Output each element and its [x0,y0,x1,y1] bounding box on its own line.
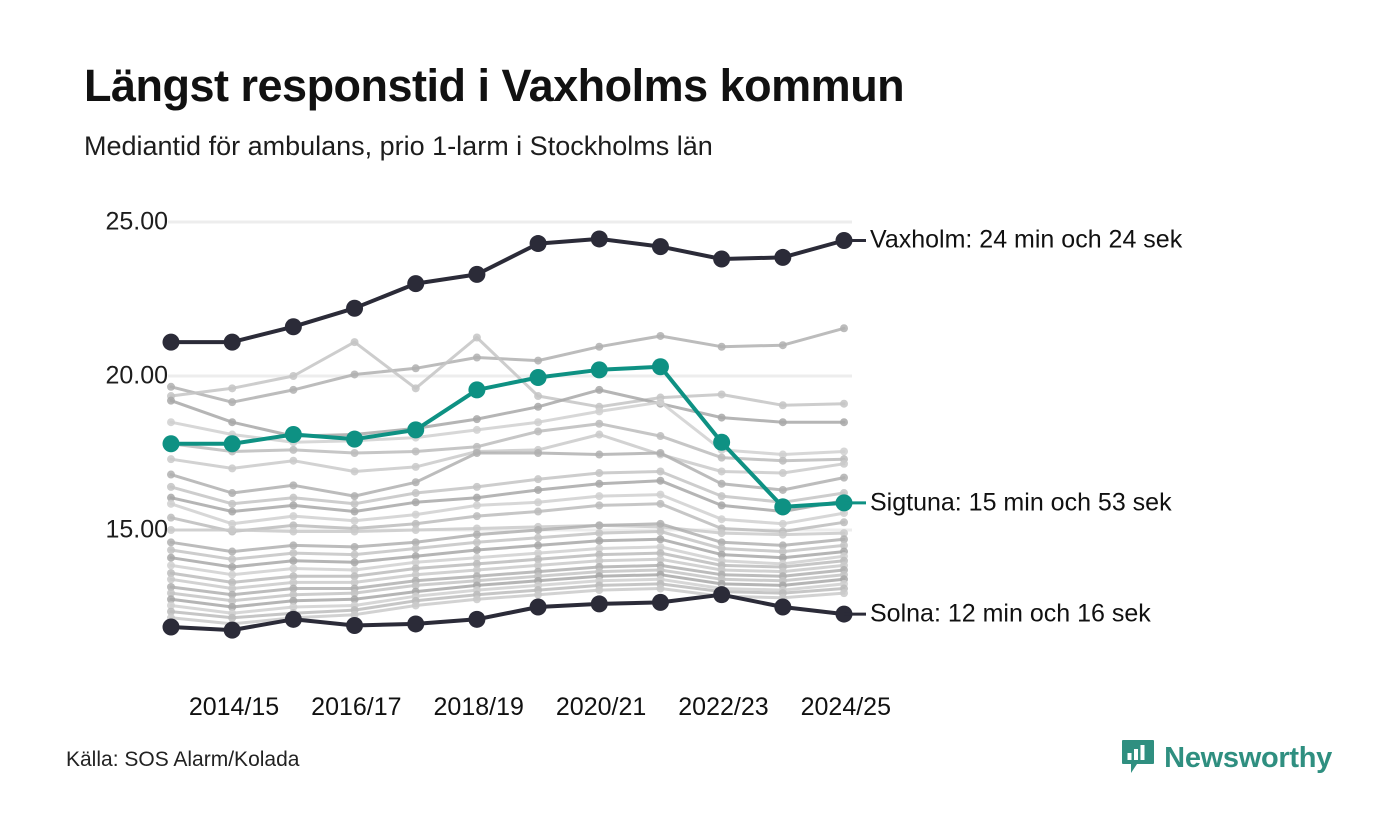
background-series-point [595,407,603,415]
background-series-point [473,595,481,603]
background-series-point [473,443,481,451]
series-point-solna[interactable] [836,606,853,623]
background-series-line [171,575,844,607]
background-series-point [718,515,726,523]
series-point-sigtuna[interactable] [224,435,241,452]
background-series-point [595,480,603,488]
background-series-point [473,560,481,568]
background-series-point [595,586,603,594]
background-series-point [779,581,787,589]
series-annotation-vaxholm[interactable]: Vaxholm: 24 min och 24 sek [870,226,1182,255]
background-series-point [595,529,603,537]
series-annotation-solna[interactable]: Solna: 12 min och 16 sek [870,600,1151,629]
background-series-point [412,577,420,585]
background-series-point [289,603,297,611]
background-series-point [412,511,420,519]
background-series-point [595,521,603,529]
background-series-point [595,572,603,580]
background-series-point [412,538,420,546]
background-series-point [779,418,787,426]
background-series-point [473,572,481,580]
x-axis-tick-label: 2014/15 [189,693,279,722]
series-point-sigtuna[interactable] [836,494,853,511]
background-series-point [656,332,664,340]
background-series-point [473,354,481,362]
x-axis-tick-label: 2022/23 [678,693,768,722]
background-series-point [779,572,787,580]
background-series-point [656,555,664,563]
background-series-point [228,563,236,571]
series-point-sigtuna[interactable] [652,358,669,375]
background-series-point [473,581,481,589]
background-series-point [779,401,787,409]
background-series-point [718,480,726,488]
background-series-point [228,528,236,536]
background-series-point [167,494,175,502]
background-series-point [840,460,848,468]
background-series-point [595,431,603,439]
background-series-point [718,561,726,569]
background-series-point [534,581,542,589]
background-series-point [412,489,420,497]
series-line-solna[interactable] [171,595,844,630]
series-point-vaxholm[interactable] [163,334,180,351]
background-series-point [656,477,664,485]
background-series-point [228,500,236,508]
background-series-point [228,384,236,392]
background-series-point [656,500,664,508]
background-series-point [351,572,359,580]
background-series-line [171,453,844,496]
background-series-point [167,397,175,405]
background-series-point [779,457,787,465]
background-series-point [228,571,236,579]
background-series-point [473,501,481,509]
background-series-point [473,334,481,342]
background-series-point [534,586,542,594]
series-point-vaxholm[interactable] [468,266,485,283]
background-series-point [289,591,297,599]
background-series-point [840,509,848,517]
background-series-point [167,440,175,448]
background-series-point [412,592,420,600]
background-series-point [289,585,297,593]
background-series-point [412,565,420,573]
background-series-point [840,552,848,560]
background-series-point [289,512,297,520]
background-series-point [228,603,236,611]
series-point-vaxholm[interactable] [652,238,669,255]
background-series-line [171,570,844,601]
chart-subtitle: Mediantid för ambulans, prio 1-larm i St… [84,109,1314,162]
series-point-vaxholm[interactable] [224,334,241,351]
background-series-point [167,455,175,463]
background-series-point [412,434,420,442]
series-point-vaxholm[interactable] [285,318,302,335]
background-series-point [473,531,481,539]
background-series-point [289,481,297,489]
background-series-point [228,464,236,472]
background-series-point [718,592,726,600]
background-series-point [595,501,603,509]
background-series-point [595,343,603,351]
background-series-point [167,538,175,546]
background-series-point [718,343,726,351]
background-series-point [656,549,664,557]
background-series-point [840,489,848,497]
background-series-point [228,418,236,426]
background-series-line [171,579,844,613]
background-series-point [534,572,542,580]
series-point-vaxholm[interactable] [836,232,853,249]
series-point-solna[interactable] [774,599,791,616]
page-title: Längst responstid i Vaxholms kommun [84,62,1314,109]
background-series-point [840,589,848,597]
background-series-point [534,534,542,542]
background-series-point [779,589,787,597]
series-line-vaxholm[interactable] [171,239,844,342]
background-series-point [473,512,481,520]
background-series-point [840,571,848,579]
background-series-point [840,400,848,408]
background-series-line [171,424,844,461]
background-series-point [473,426,481,434]
background-series-point [656,432,664,440]
background-series-point [228,614,236,622]
background-series-line [171,328,844,402]
background-series-point [289,565,297,573]
chart-header: Längst responstid i Vaxholms kommun Medi… [84,62,1314,162]
background-series-point [534,449,542,457]
background-series-line [171,390,844,436]
background-series-point [595,557,603,565]
series-point-vaxholm[interactable] [346,300,363,317]
background-series-point [167,383,175,391]
background-series-point [595,577,603,585]
series-point-sigtuna[interactable] [285,426,302,443]
background-series-point [779,541,787,549]
background-series-point [289,572,297,580]
background-series-point [351,566,359,574]
background-series-point [718,446,726,454]
series-point-vaxholm[interactable] [713,250,730,267]
background-series-point [412,520,420,528]
background-series-point [412,588,420,596]
background-series-point [534,427,542,435]
series-point-vaxholm[interactable] [774,249,791,266]
background-series-point [718,414,726,422]
background-series-point [351,338,359,346]
series-point-sigtuna[interactable] [774,498,791,515]
background-series-point [840,557,848,565]
background-series-point [779,508,787,516]
background-series-point [534,418,542,426]
background-series-point [289,521,297,529]
background-series-point [840,566,848,574]
background-series-point [534,577,542,585]
background-series-point [289,501,297,509]
series-point-solna[interactable] [346,617,363,634]
background-series-point [167,554,175,562]
y-axis-tick-label: 25.00 [105,208,168,237]
background-series-point [167,583,175,591]
x-axis-tick-label: 2020/21 [556,693,646,722]
background-series-line [171,559,844,588]
background-series-point [351,606,359,614]
background-series-point [656,398,664,406]
background-series-point [351,578,359,586]
background-series-point [289,578,297,586]
background-series-point [228,447,236,455]
background-series-point [473,586,481,594]
background-series-point [595,563,603,571]
background-series-line [171,435,844,474]
background-series-point [167,595,175,603]
background-series-point [595,581,603,589]
background-series-point [656,561,664,569]
background-series-point [351,508,359,516]
background-series-point [718,575,726,583]
background-series-point [595,451,603,459]
background-series-point [779,594,787,602]
background-series-point [718,571,726,579]
background-series-point [656,520,664,528]
background-series-point [840,497,848,505]
background-series-line [171,539,844,567]
background-series-point [779,560,787,568]
background-series-point [779,554,787,562]
background-series-point [473,591,481,599]
background-series-line [171,553,844,582]
background-series-point [351,467,359,475]
background-series-point [412,601,420,609]
background-series-point [718,588,726,596]
background-series-line [171,589,844,624]
background-series-point [718,585,726,593]
background-series-point [718,467,726,475]
background-series-point [351,558,359,566]
series-point-sigtuna[interactable] [407,421,424,438]
background-series-point [351,431,359,439]
background-series-point [840,541,848,549]
background-series-point [473,494,481,502]
background-series-point [718,524,726,532]
background-series-point [779,531,787,539]
background-series-point [473,546,481,554]
y-axis-tick-label: 15.00 [105,516,168,545]
background-series-point [167,569,175,577]
background-series-point [167,514,175,522]
background-series-point [656,449,664,457]
background-series-point [534,357,542,365]
background-series-point [412,424,420,432]
series-point-sigtuna[interactable] [591,361,608,378]
background-series-point [840,529,848,537]
background-series-point [840,447,848,455]
background-series-point [351,492,359,500]
background-series-point [718,454,726,462]
background-series-point [351,595,359,603]
series-point-solna[interactable] [407,615,424,632]
series-point-solna[interactable] [591,595,608,612]
background-series-point [412,447,420,455]
background-series-point [656,535,664,543]
background-series-point [289,549,297,557]
background-series-point [412,552,420,560]
y-axis-tick-label: 20.00 [105,362,168,391]
background-series-point [167,418,175,426]
background-series-point [289,494,297,502]
background-series-point [840,548,848,556]
background-series-point [289,386,297,394]
series-point-sigtuna[interactable] [468,381,485,398]
background-series-line [171,525,844,534]
background-series-point [167,546,175,554]
background-series-point [351,500,359,508]
series-point-solna[interactable] [285,611,302,628]
background-series-point [718,501,726,509]
background-series-point [351,517,359,525]
background-series-point [656,400,664,408]
background-series-point [351,611,359,619]
background-series-point [167,589,175,597]
series-point-vaxholm[interactable] [530,235,547,252]
background-series-point [595,469,603,477]
background-series-point [412,597,420,605]
background-series-point [289,446,297,454]
background-series-point [779,577,787,585]
background-series-point [656,580,664,588]
series-annotation-sigtuna[interactable]: Sigtuna: 15 min och 53 sek [870,488,1172,517]
background-series-point [534,555,542,563]
background-series-point [351,589,359,597]
background-series-point [718,580,726,588]
background-series-point [595,551,603,559]
background-series-point [534,475,542,483]
background-series-point [228,398,236,406]
chart-page: Längst responstid i Vaxholms kommun Medi… [0,0,1400,840]
background-series-point [840,561,848,569]
background-series-point [167,483,175,491]
newsworthy-logo: Newsworthy [1121,739,1332,777]
background-series-point [779,568,787,576]
bar-chart-bubble-icon [1121,739,1155,777]
background-series-point [167,614,175,622]
gridlines [168,222,852,530]
background-series-point [656,467,664,475]
background-series-point [840,535,848,543]
background-series-point [656,566,664,574]
series-point-solna[interactable] [530,599,547,616]
background-series-point [228,555,236,563]
background-series-point [656,543,664,551]
background-series-point [595,420,603,428]
background-series-point [289,372,297,380]
background-series-point [412,558,420,566]
background-series-point [779,498,787,506]
background-series-point [351,543,359,551]
background-series-point [412,571,420,579]
background-series-point [595,386,603,394]
background-series-line [171,472,844,504]
background-series-point [534,403,542,411]
background-series-point [534,591,542,599]
background-series-point [473,483,481,491]
background-series-point [656,585,664,593]
series-line-sigtuna[interactable] [171,367,844,507]
series-point-solna[interactable] [468,611,485,628]
background-series-point [779,341,787,349]
series-point-sigtuna[interactable] [163,435,180,452]
series-point-solna[interactable] [163,619,180,636]
background-series-line [171,495,844,524]
x-axis-tick-label: 2024/25 [801,693,891,722]
background-series-point [595,568,603,576]
background-series-point [779,563,787,571]
background-series-group [167,324,848,628]
background-series-point [534,392,542,400]
background-series-point [167,392,175,400]
background-series-point [228,578,236,586]
background-series-point [473,566,481,574]
series-point-vaxholm[interactable] [407,275,424,292]
highlighted-series-group [163,230,867,638]
series-point-solna[interactable] [224,622,241,639]
background-series-point [351,585,359,593]
source-note: Källa: SOS Alarm/Kolada [66,748,299,772]
background-series-point [351,528,359,536]
background-series-point [351,370,359,378]
background-series-line [171,504,844,532]
background-series-point [840,455,848,463]
background-series-point [534,549,542,557]
background-series-point [473,524,481,532]
series-point-sigtuna[interactable] [713,434,730,451]
background-series-point [167,526,175,534]
background-series-point [840,418,848,426]
background-series-point [167,608,175,616]
background-series-point [534,446,542,454]
background-series-point [473,449,481,457]
series-point-vaxholm[interactable] [591,230,608,247]
background-series-point [534,561,542,569]
series-point-solna[interactable] [652,594,669,611]
background-series-point [351,524,359,532]
background-series-point [718,551,726,559]
background-series-point [656,528,664,536]
background-series-point [228,520,236,528]
background-series-point [656,571,664,579]
background-series-point [289,432,297,440]
background-series-point [840,474,848,482]
background-series-point [228,489,236,497]
series-point-sigtuna[interactable] [530,369,547,386]
background-series-point [228,591,236,599]
series-point-solna[interactable] [713,586,730,603]
series-point-sigtuna[interactable] [346,431,363,448]
background-series-point [228,620,236,628]
background-series-point [595,403,603,411]
background-series-point [351,449,359,457]
background-series-point [167,500,175,508]
background-series-point [779,469,787,477]
x-axis-tick-label: 2016/17 [311,693,401,722]
background-series-point [228,609,236,617]
background-series-line [171,565,844,594]
background-series-point [228,431,236,439]
background-series-point [718,544,726,552]
background-series-point [595,492,603,500]
